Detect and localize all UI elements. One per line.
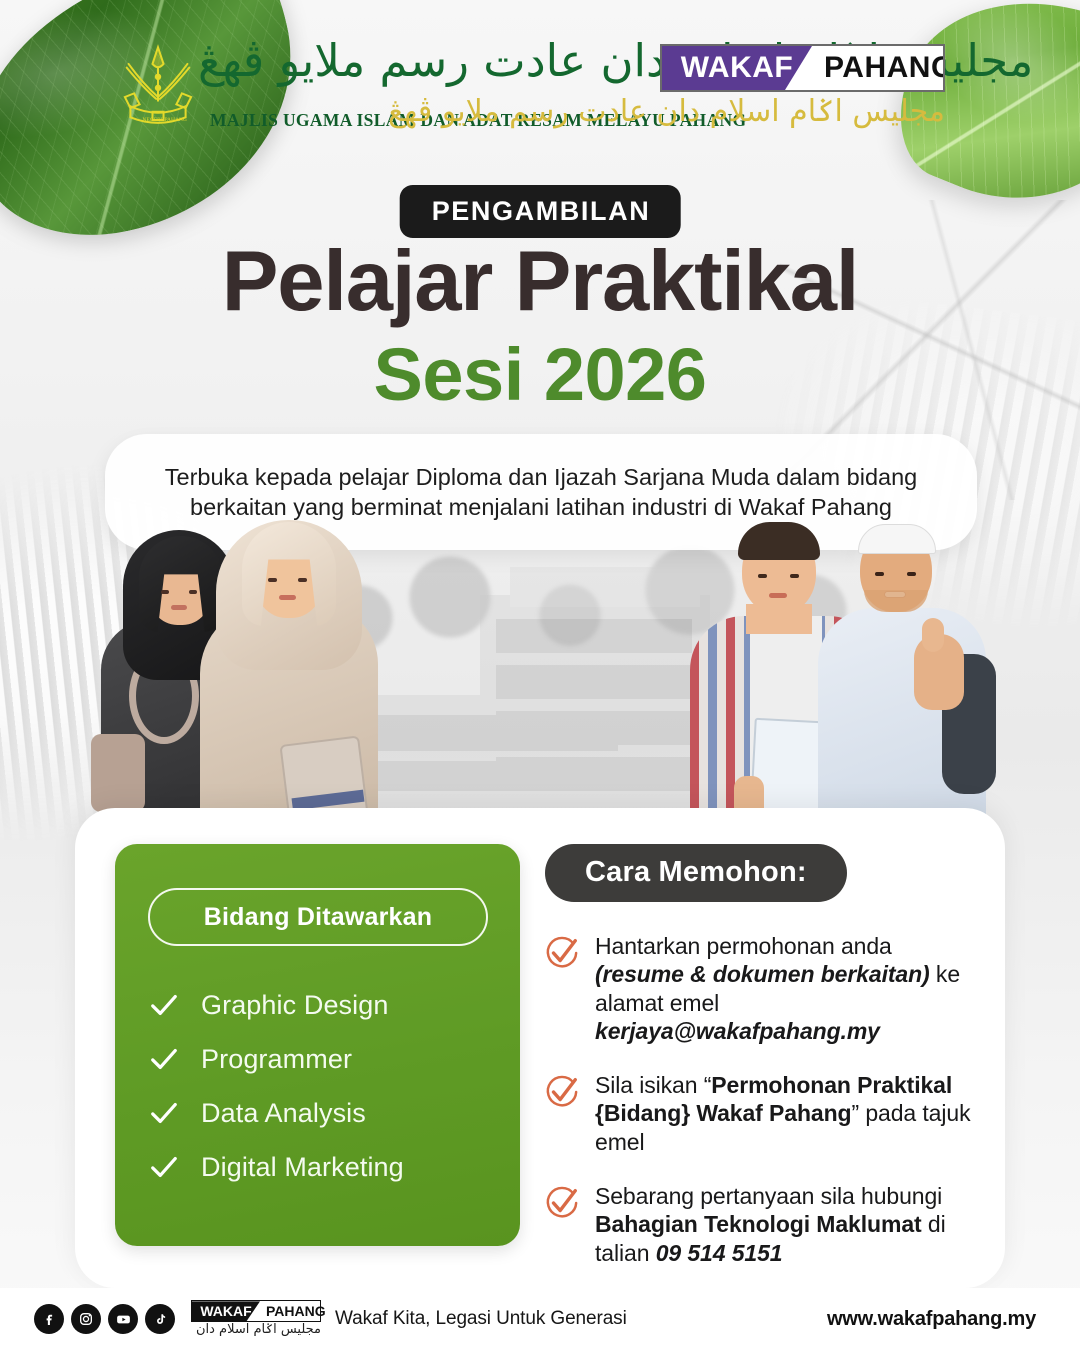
check-icon: [149, 1098, 179, 1128]
poster-root: NEGERI PAHANG مجليس اݢام اسلام دان عادت …: [0, 0, 1080, 1350]
fields-offered-heading: Bidang Ditawarkan: [204, 903, 432, 932]
list-item: Graphic Design: [149, 978, 509, 1032]
wakaf-pahang-logo-bar: WAKAF PAHANG: [660, 44, 945, 92]
how-to-apply-section: Cara Memohon: Hantarkan permohonan anda …: [545, 844, 975, 1293]
fields-offered-heading-pill: Bidang Ditawarkan: [148, 888, 488, 946]
list-item: Hantarkan permohonan anda (resume & doku…: [545, 932, 975, 1045]
pengambilan-badge: PENGAMBILAN: [400, 185, 681, 238]
svg-text:PAHANG: PAHANG: [164, 117, 186, 123]
footer-bar: WAKAF PAHANG مجليس اݢام اسلام دان عادت ر…: [0, 1288, 1080, 1350]
field-label: Programmer: [201, 1044, 352, 1075]
handbag: [91, 734, 145, 812]
pahang-state-crest-icon: NEGERI PAHANG: [112, 40, 204, 132]
list-item: Programmer: [149, 1032, 509, 1086]
info-card: Bidang Ditawarkan Graphic Design Program…: [75, 808, 1005, 1288]
youtube-icon[interactable]: [108, 1304, 138, 1334]
logo-word-pahang: PAHANG: [812, 46, 945, 90]
footer-logo-word-wakaf: WAKAF: [192, 1301, 260, 1321]
check-icon: [149, 990, 179, 1020]
field-label: Data Analysis: [201, 1098, 366, 1129]
step-text: Sebarang pertanyaan sila hubungi Bahagia…: [595, 1182, 975, 1267]
tiktok-icon[interactable]: [145, 1304, 175, 1334]
list-item: Digital Marketing: [149, 1140, 509, 1194]
check-icon: [149, 1152, 179, 1182]
footer-logo-word-pahang: PAHANG: [260, 1301, 326, 1321]
list-item: Sila isikan “Permohonan Praktikal {Bidan…: [545, 1071, 975, 1156]
circle-check-icon: [545, 936, 579, 970]
student-person-4: [818, 520, 998, 830]
songkok-cap-icon: [858, 524, 936, 554]
how-to-apply-steps: Hantarkan permohonan anda (resume & doku…: [545, 932, 975, 1267]
facebook-icon[interactable]: [34, 1304, 64, 1334]
list-item: Data Analysis: [149, 1086, 509, 1140]
page-subtitle-session: Sesi 2026: [0, 338, 1080, 412]
step-text: Hantarkan permohonan anda (resume & doku…: [595, 932, 975, 1045]
students-photo-group: [0, 510, 1080, 830]
page-title: Pelajar Praktikal: [0, 240, 1080, 323]
circle-check-icon: [545, 1186, 579, 1220]
wakaf-pahang-jawi-text: مجليس اݢام اسلام دان عادت رسم ملايو ڤهڠ: [660, 97, 945, 127]
wakaf-pahang-logo: WAKAF PAHANG مجليس اݢام اسلام دان عادت ر…: [660, 44, 952, 140]
field-label: Digital Marketing: [201, 1152, 404, 1183]
footer-website-url[interactable]: www.wakafpahang.my: [827, 1308, 1036, 1331]
svg-text:NEGERI: NEGERI: [142, 117, 162, 123]
footer-wakaf-pahang-logo: WAKAF PAHANG مجليس اݢام اسلام دان عادت ر…: [191, 1300, 321, 1337]
instagram-icon[interactable]: [71, 1304, 101, 1334]
footer-tagline: Wakaf Kita, Legasi Untuk Generasi: [335, 1308, 627, 1330]
logo-word-wakaf: WAKAF: [662, 46, 812, 90]
check-icon: [149, 1044, 179, 1074]
field-label: Graphic Design: [201, 990, 389, 1021]
social-links[interactable]: [34, 1304, 175, 1334]
fields-offered-panel: Bidang Ditawarkan Graphic Design Program…: [115, 844, 520, 1246]
student-person-2: [192, 520, 382, 830]
step-text: Sila isikan “Permohonan Praktikal {Bidan…: [595, 1071, 975, 1156]
how-to-apply-heading: Cara Memohon:: [545, 844, 847, 902]
footer-logo-jawi: مجليس اݢام اسلام دان عادت رسم ملايو ڤهڠ: [191, 1323, 321, 1337]
fields-offered-list: Graphic Design Programmer Data Analysis: [149, 978, 509, 1194]
circle-check-icon: [545, 1075, 579, 1109]
list-item: Sebarang pertanyaan sila hubungi Bahagia…: [545, 1182, 975, 1267]
